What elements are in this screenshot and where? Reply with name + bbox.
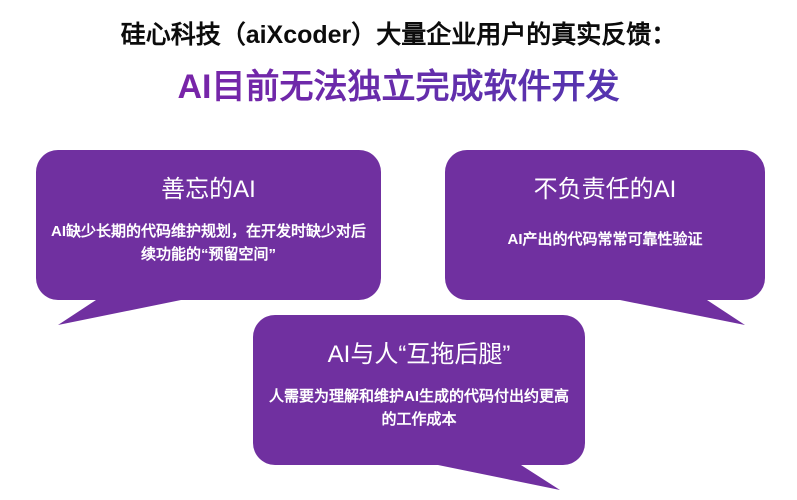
callout-heading-forgetful-ai: 善忘的AI	[50, 166, 367, 206]
callout-heading-irresponsible-ai: 不负责任的AI	[459, 166, 751, 206]
heading-block: 硅心科技（aiXcoder）大量企业用户的真实反馈： AI目前无法独立完成软件开…	[0, 0, 797, 109]
callout-heading-mutual-dragging: AI与人“互拖后腿”	[267, 331, 571, 371]
callout-bubble-irresponsible-ai[interactable]: 不负责任的AI AI产出的代码常常可靠性验证	[445, 150, 765, 330]
callout-content-mutual-dragging: AI与人“互拖后腿” 人需要为理解和维护AI生成的代码付出约更高的工作成本	[253, 315, 585, 431]
callout-bubble-mutual-dragging[interactable]: AI与人“互拖后腿” 人需要为理解和维护AI生成的代码付出约更高的工作成本	[253, 315, 585, 495]
callout-description-irresponsible-ai: AI产出的代码常常可靠性验证	[459, 206, 751, 251]
page-title: 硅心科技（aiXcoder）大量企业用户的真实反馈：	[0, 0, 797, 52]
callout-description-forgetful-ai: AI缺少长期的代码维护规划，在开发时缺少对后续功能的“预留空间”	[50, 206, 367, 266]
callout-content-forgetful-ai: 善忘的AI AI缺少长期的代码维护规划，在开发时缺少对后续功能的“预留空间”	[36, 150, 381, 266]
callout-description-mutual-dragging: 人需要为理解和维护AI生成的代码付出约更高的工作成本	[267, 371, 571, 431]
callout-content-irresponsible-ai: 不负责任的AI AI产出的代码常常可靠性验证	[445, 150, 765, 251]
page-subtitle: AI目前无法独立完成软件开发	[0, 52, 797, 109]
callout-bubble-forgetful-ai[interactable]: 善忘的AI AI缺少长期的代码维护规划，在开发时缺少对后续功能的“预留空间”	[36, 150, 381, 330]
slide-canvas: 硅心科技（aiXcoder）大量企业用户的真实反馈： AI目前无法独立完成软件开…	[0, 0, 797, 500]
